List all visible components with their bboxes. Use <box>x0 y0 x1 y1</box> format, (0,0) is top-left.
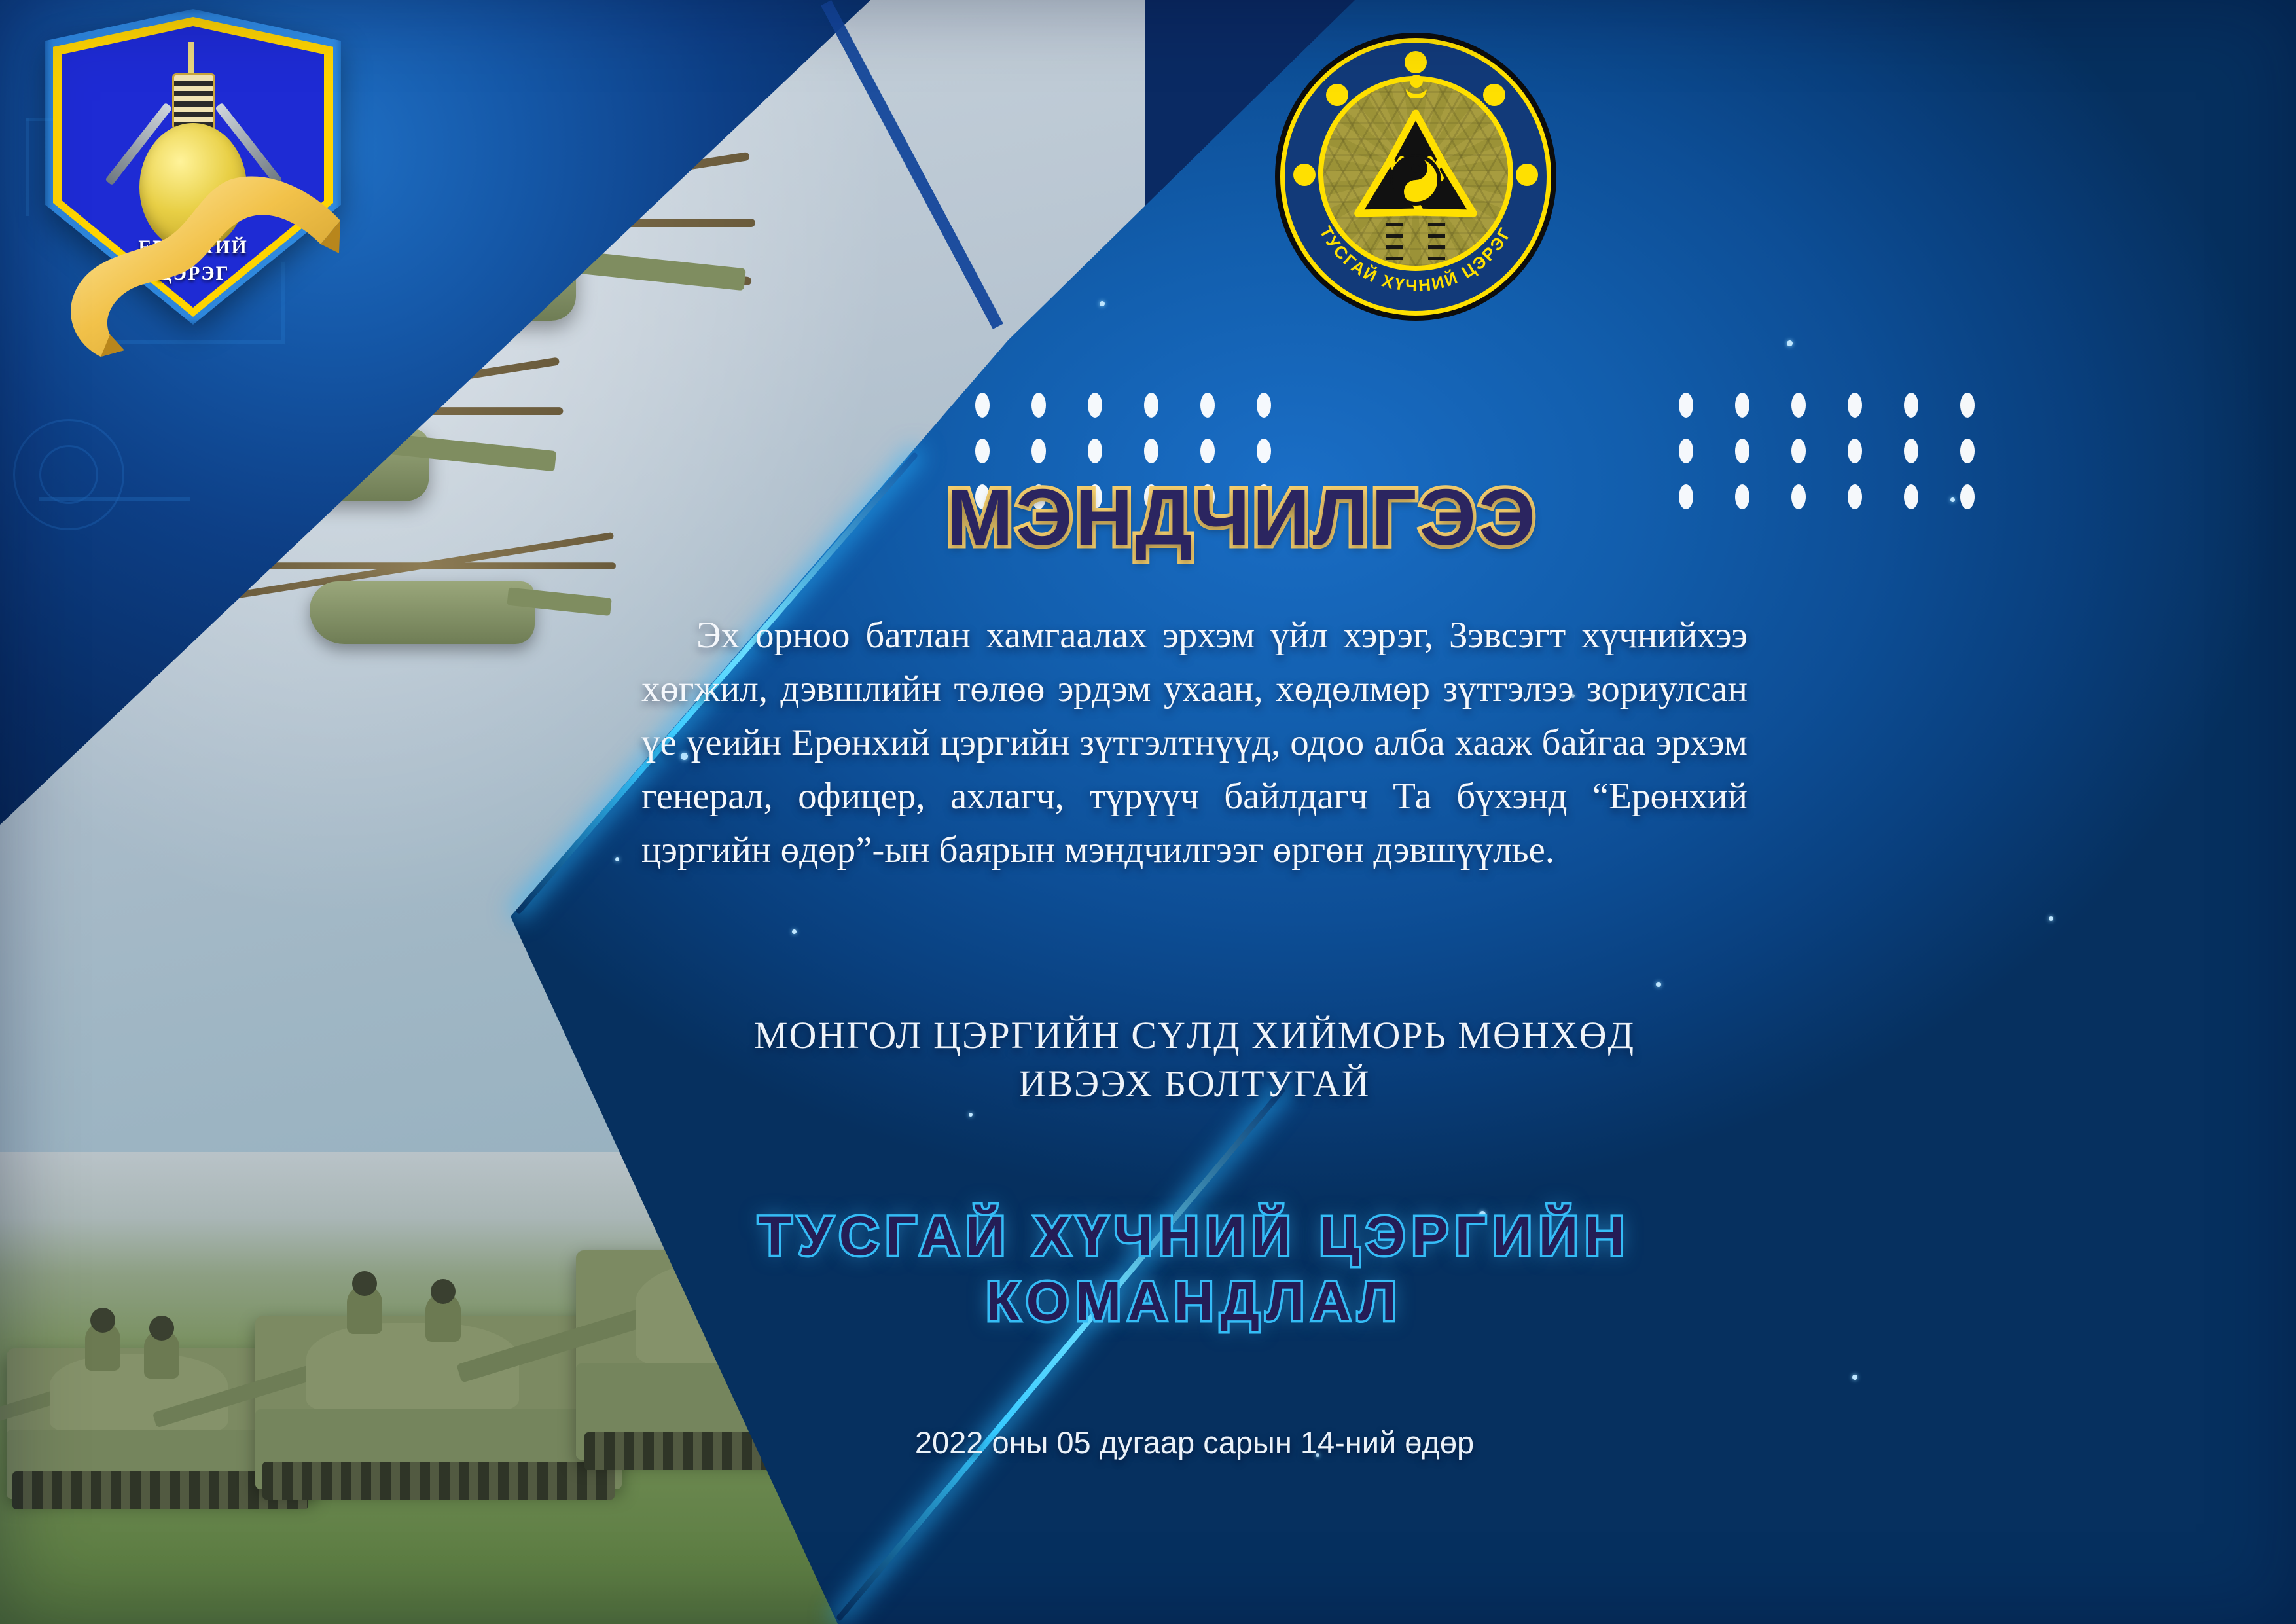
unit-name-line-2: КОМАНДЛАЛ <box>589 1269 1800 1334</box>
helicopter-body <box>310 581 535 644</box>
greeting-poster: 03 05 <box>0 0 2296 1624</box>
slogan-line-1: МОНГОЛ ЦЭРГИЙН СҮЛД ХИЙМОРЬ МӨНХӨД <box>641 1011 1748 1060</box>
soyombo-flame-icon <box>1399 60 1433 98</box>
unit-name-line-1: ТУСГАЙ ХҮЧНИЙ ЦЭРГИЙН <box>589 1203 1800 1269</box>
dot-row-right <box>1679 439 1975 463</box>
general-troops-badge: ЕРӨНХИЙ ЦЭРЭГ <box>62 26 324 308</box>
banner-stack-icon <box>172 73 215 130</box>
badge-label-line-1: ЕРӨНХИЙ <box>62 234 324 261</box>
tank-crew-member <box>144 1330 179 1379</box>
slogan-line-2: ИВЭЭХ БОЛТУГАЙ <box>641 1060 1748 1108</box>
tank-crew-member <box>85 1322 120 1371</box>
unit-name-block: ТУСГАЙ ХҮЧНИЙ ЦЭРГИЙН КОМАНДЛАЛ <box>589 1203 1800 1334</box>
dot-row-right <box>1679 393 1975 418</box>
badge-label-line-2: ЦЭРЭГ <box>62 261 324 287</box>
greeting-body-text: Эх орноо батлан хамгаалах эрхэм үйл хэрэ… <box>641 609 1748 877</box>
svg-text:ТУСГАЙ ХҮЧНИЙ ЦЭРЭГ: ТУСГАЙ ХҮЧНИЙ ЦЭРЭГ <box>1316 223 1515 296</box>
greeting-body-paragraph: Эх орноо батлан хамгаалах эрхэм үйл хэрэ… <box>641 615 1748 871</box>
gold-medallion-icon <box>139 123 247 251</box>
tank-turret <box>50 1354 228 1433</box>
helicopter-3 <box>310 560 535 644</box>
slogan-block: МОНГОЛ ЦЭРГИЙН СҮЛД ХИЙМОРЬ МӨНХӨД ИВЭЭХ… <box>641 1011 1748 1108</box>
special-forces-emblem: ТУСГАЙ ХҮЧНИЙ ЦЭРЭГ <box>1275 33 1556 321</box>
date-line: 2022 оны 05 дугаар сарын 14-ний өдөр <box>589 1424 1800 1460</box>
tank-crew-member <box>425 1293 461 1342</box>
tank-crew-member <box>347 1286 382 1334</box>
dot-row-left <box>975 439 1271 463</box>
badge-label: ЕРӨНХИЙ ЦЭРЭГ <box>62 234 324 287</box>
page-title: МЭНДЧИЛГЭЭ <box>94 471 2296 563</box>
tank-tracks <box>262 1462 615 1500</box>
dot-row-left <box>975 393 1271 418</box>
